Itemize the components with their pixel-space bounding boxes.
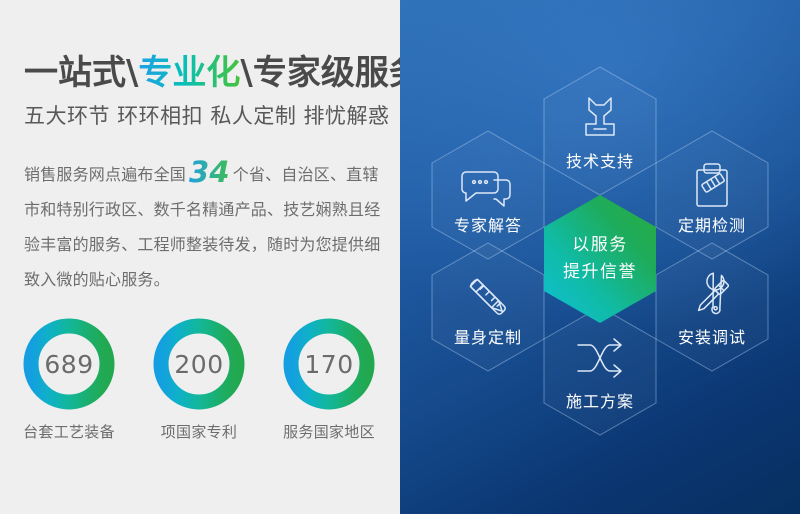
hex-cell-construction-plan[interactable]: 施工方案 [544,307,656,435]
hex-label: 量身定制 [454,328,522,347]
paragraph-highlight-number: 34 [186,155,233,189]
center-label-line2: 提升信誉 [563,262,637,282]
stat-item: 170 服务国家地区 [278,318,380,442]
hexagon-outline [432,131,544,259]
description-paragraph: 销售服务网点遍布全国34个省、自治区、直辖市和特别行政区、数千名精通产品、技艺娴… [24,155,384,297]
stat-value: 689 [23,318,115,410]
headline-part-2: 专家级服务 [253,53,423,93]
stat-value: 170 [283,318,375,410]
stat-label: 服务国家地区 [278,421,380,442]
hex-label: 安装调试 [678,328,746,347]
hex-label: 定期检测 [678,216,746,235]
paragraph-before: 销售服务网点遍布全国 [24,165,186,184]
left-content-panel: 一站式\专业化\专家级服务 五大环节 环环相扣 私人定制 排忧解惑 销售服务网点… [0,0,400,514]
center-hexagon-shape [544,195,656,323]
stat-label: 项国家专利 [148,421,250,442]
stat-value: 200 [153,318,245,410]
page-subtitle: 五大环节 环环相扣 私人定制 排忧解惑 [24,100,390,130]
headline-slash-2: \ [240,53,252,93]
headline-highlight: 专业化 [138,53,240,93]
headline-part-1: 一站式 [24,53,126,93]
hexagon-outline [544,307,656,435]
hex-cell-tech-support[interactable]: 技术支持 [544,67,656,195]
hex-cell-installation-debug[interactable]: 安装调试 [656,243,768,371]
hexagon-outline [656,131,768,259]
stat-ring: 200 [153,318,245,410]
stat-ring: 170 [283,318,375,410]
hex-cell-custom-tailored[interactable]: 量身定制 [432,243,544,371]
hex-label: 技术支持 [566,152,634,171]
page-root: 一站式\专业化\专家级服务 五大环节 环环相扣 私人定制 排忧解惑 销售服务网点… [0,0,800,514]
hex-cell-expert-answers[interactable]: 专家解答 [432,131,544,259]
hex-label: 专家解答 [454,216,522,235]
hexagon-outline [544,67,656,195]
stat-ring: 689 [23,318,115,410]
stat-label: 台套工艺装备 [18,421,120,442]
headline-slash-1: \ [126,53,138,93]
hexagon-diagram: 技术支持 定期检测 [400,0,800,514]
center-label-line1: 以服务 [572,235,628,255]
stat-item: 200 项国家专利 [148,318,250,442]
hex-cell-periodic-inspection[interactable]: 定期检测 [656,131,768,259]
page-title: 一站式\专业化\专家级服务 [24,56,423,90]
hexagon-outline [432,243,544,371]
stat-item: 689 台套工艺装备 [18,318,120,442]
hex-label: 施工方案 [566,392,634,411]
stats-row: 689 台套工艺装备 [18,318,382,442]
hex-cell-center-slogan[interactable]: 以服务 提升信誉 [544,195,656,323]
hexagon-diagram-panel: 技术支持 定期检测 [400,0,800,514]
